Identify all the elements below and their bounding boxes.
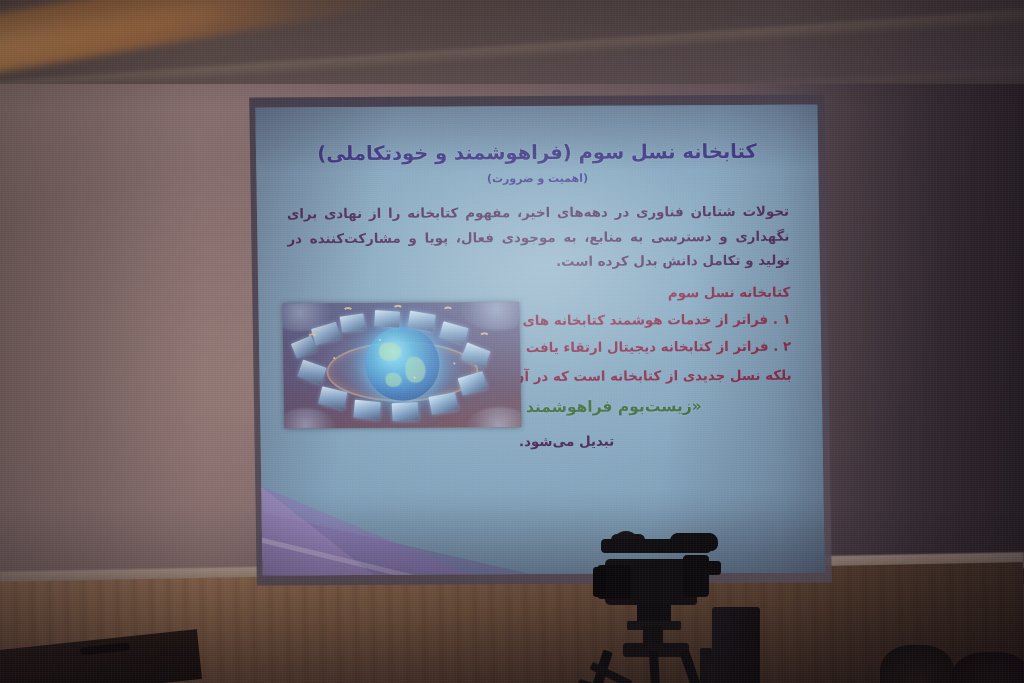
slide-heading: کتابخانه نسل سوم xyxy=(284,286,794,304)
conference-room-photo: کتابخانه نسل سوم (فراهوشمند و خودتکاملی)… xyxy=(0,0,1024,683)
confidence-monitor xyxy=(712,607,760,683)
slide-paragraph: تحولات شتابان فناوری در دهه‌های اخیر، مف… xyxy=(283,201,794,277)
slide-subtitle: (اهمیت و ضرورت) xyxy=(282,171,792,187)
slide-title: کتابخانه نسل سوم (فراهوشمند و خودتکاملی) xyxy=(282,137,792,169)
audience-silhouette xyxy=(952,652,1024,683)
audience-silhouette xyxy=(880,645,954,683)
illustration-projection-tint xyxy=(282,302,521,428)
projection-screen: کتابخانه نسل سوم (فراهوشمند و خودتکاملی)… xyxy=(249,95,832,586)
camera-viewfinder xyxy=(703,561,721,575)
projected-slide: کتابخانه نسل سوم (فراهوشمند و خودتکاملی)… xyxy=(255,105,824,576)
slide-closing: تبدیل می‌شود. xyxy=(286,434,796,452)
lens-hood xyxy=(593,567,606,597)
monitor-stand xyxy=(700,648,712,683)
slide-illustration xyxy=(282,302,521,428)
shotgun-microphone xyxy=(670,533,718,551)
